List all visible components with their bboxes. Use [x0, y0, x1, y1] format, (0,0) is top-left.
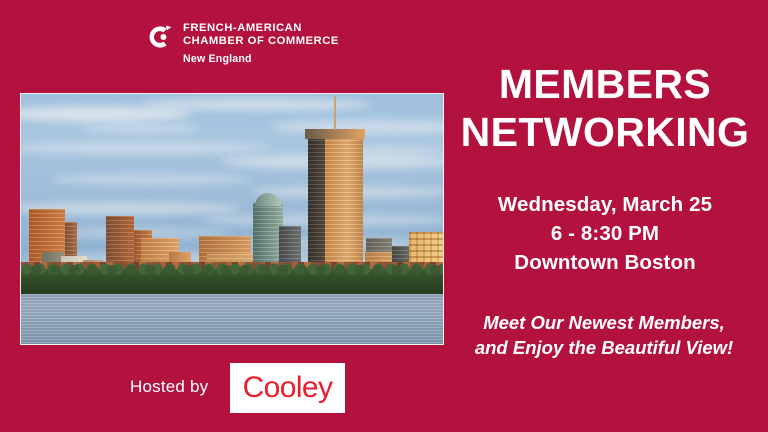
- event-location: Downtown Boston: [452, 248, 758, 277]
- event-date: Wednesday, March 25: [452, 190, 758, 219]
- tagline-line-1: Meet Our Newest Members,: [448, 310, 760, 335]
- event-flyer: FRENCH-AMERICAN CHAMBER OF COMMERCE New …: [0, 0, 768, 432]
- event-time: 6 - 8:30 PM: [452, 219, 758, 248]
- chamber-logo-lockup: FRENCH-AMERICAN CHAMBER OF COMMERCE New …: [144, 21, 339, 66]
- tagline-line-2: and Enjoy the Beautiful View!: [448, 335, 760, 360]
- headline-line-2: NETWORKING: [452, 108, 758, 156]
- tree-line: [21, 269, 443, 297]
- cloud: [51, 174, 251, 185]
- sponsor-logo: Cooley: [230, 363, 345, 413]
- cooley-wordmark: Cooley: [243, 373, 333, 403]
- prudential-tower: [325, 132, 363, 282]
- prudential-tower: [308, 132, 325, 282]
- chamber-wordmark: FRENCH-AMERICAN CHAMBER OF COMMERCE New …: [183, 21, 339, 66]
- event-tagline: Meet Our Newest Members, and Enjoy the B…: [448, 310, 760, 360]
- tower-crown: [305, 129, 365, 139]
- org-line-2: CHAMBER OF COMMERCE: [183, 35, 339, 48]
- charles-river-water: [21, 294, 443, 344]
- page-title: MEMBERS NETWORKING: [452, 60, 758, 156]
- boston-skyline-photo: [20, 93, 444, 345]
- chapter-label: New England: [183, 53, 339, 66]
- cloud: [141, 98, 371, 111]
- hosted-by-label: Hosted by: [130, 377, 208, 397]
- cci-circular-mark-icon: [144, 22, 174, 52]
- headline-line-1: MEMBERS: [452, 60, 758, 108]
- cloud: [81, 124, 201, 133]
- cloud: [20, 142, 271, 154]
- event-details: Wednesday, March 25 6 - 8:30 PM Downtown…: [452, 190, 758, 277]
- org-line-1: FRENCH-AMERICAN: [183, 22, 339, 35]
- tower-antenna: [334, 96, 336, 130]
